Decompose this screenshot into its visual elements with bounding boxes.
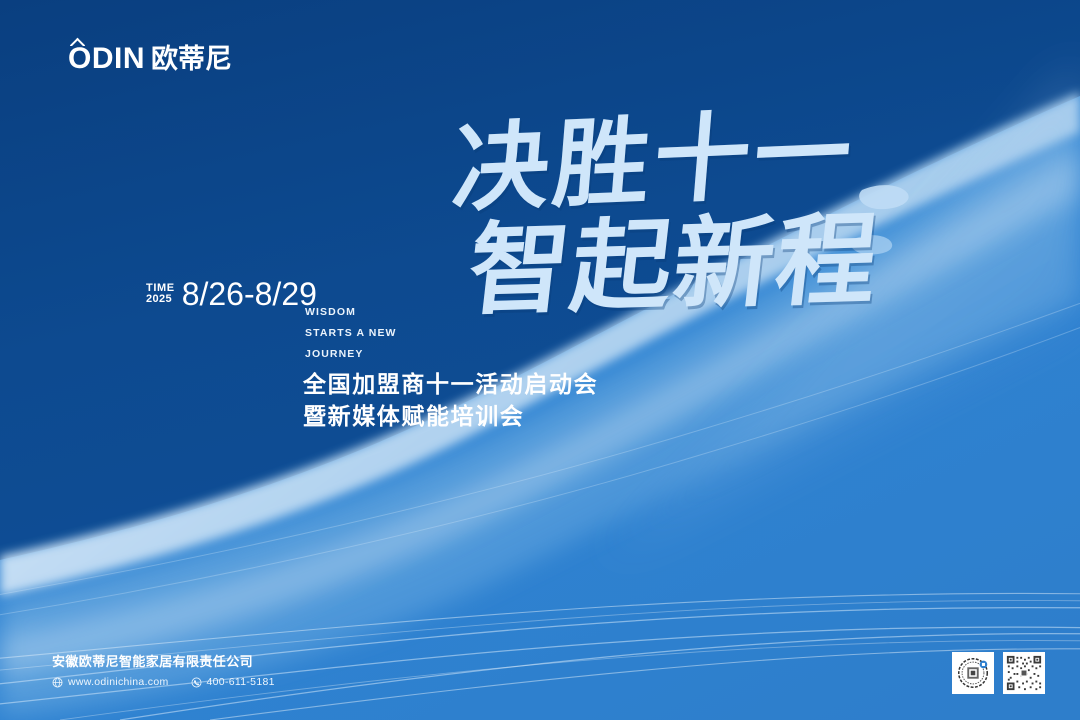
tagline-line-3: JOURNEY	[305, 344, 397, 365]
website-text: www.odinichina.com	[68, 676, 169, 688]
tagline-line-2: STARTS A NEW	[305, 323, 397, 344]
footer-info: 安徽欧蒂尼智能家居有限责任公司 www.odinichina.com 400-6…	[52, 655, 275, 688]
time-year: 2025	[146, 294, 175, 306]
website-item[interactable]: www.odinichina.com	[52, 676, 169, 688]
wechat-official-qr[interactable]	[952, 652, 994, 694]
english-tagline: WISDOM STARTS A NEW JOURNEY	[305, 302, 397, 365]
phone-text: 400-611-5181	[207, 676, 275, 688]
headline: 决胜十一 智起新程	[440, 112, 910, 314]
background-artwork	[0, 0, 1080, 720]
event-date-range: 8/26-8/29	[182, 278, 317, 310]
qr-code-group	[952, 652, 1045, 694]
telephone-icon	[191, 677, 202, 688]
circumflex-accent-icon	[70, 37, 85, 46]
subtitle-line-2: 暨新媒体赋能培训会	[303, 400, 598, 432]
tagline-line-1: WISDOM	[305, 302, 397, 323]
mini-program-qr[interactable]	[1003, 652, 1045, 694]
brand-logo: ODIN 欧蒂尼	[68, 44, 232, 74]
headline-line-2: 智起新程	[464, 208, 917, 320]
globe-icon	[52, 677, 63, 688]
company-name: 安徽欧蒂尼智能家居有限责任公司	[52, 655, 275, 668]
promotional-poster: ODIN 欧蒂尼 决胜十一 智起新程 TIME 2025 8/26-8/29 W…	[0, 0, 1080, 720]
event-subtitle: 全国加盟商十一活动启动会 暨新媒体赋能培训会	[303, 368, 598, 432]
time-label-stack: TIME 2025	[146, 283, 175, 310]
contact-row: www.odinichina.com 400-611-5181	[52, 676, 275, 688]
logo-wordmark-text: ODIN	[68, 42, 145, 75]
event-date-block: TIME 2025 8/26-8/29	[146, 278, 317, 310]
logo-chinese-name: 欧蒂尼	[151, 46, 232, 73]
logo-wordmark: ODIN	[68, 44, 145, 74]
phone-item[interactable]: 400-611-5181	[191, 676, 275, 688]
subtitle-line-1: 全国加盟商十一活动启动会	[303, 368, 598, 400]
